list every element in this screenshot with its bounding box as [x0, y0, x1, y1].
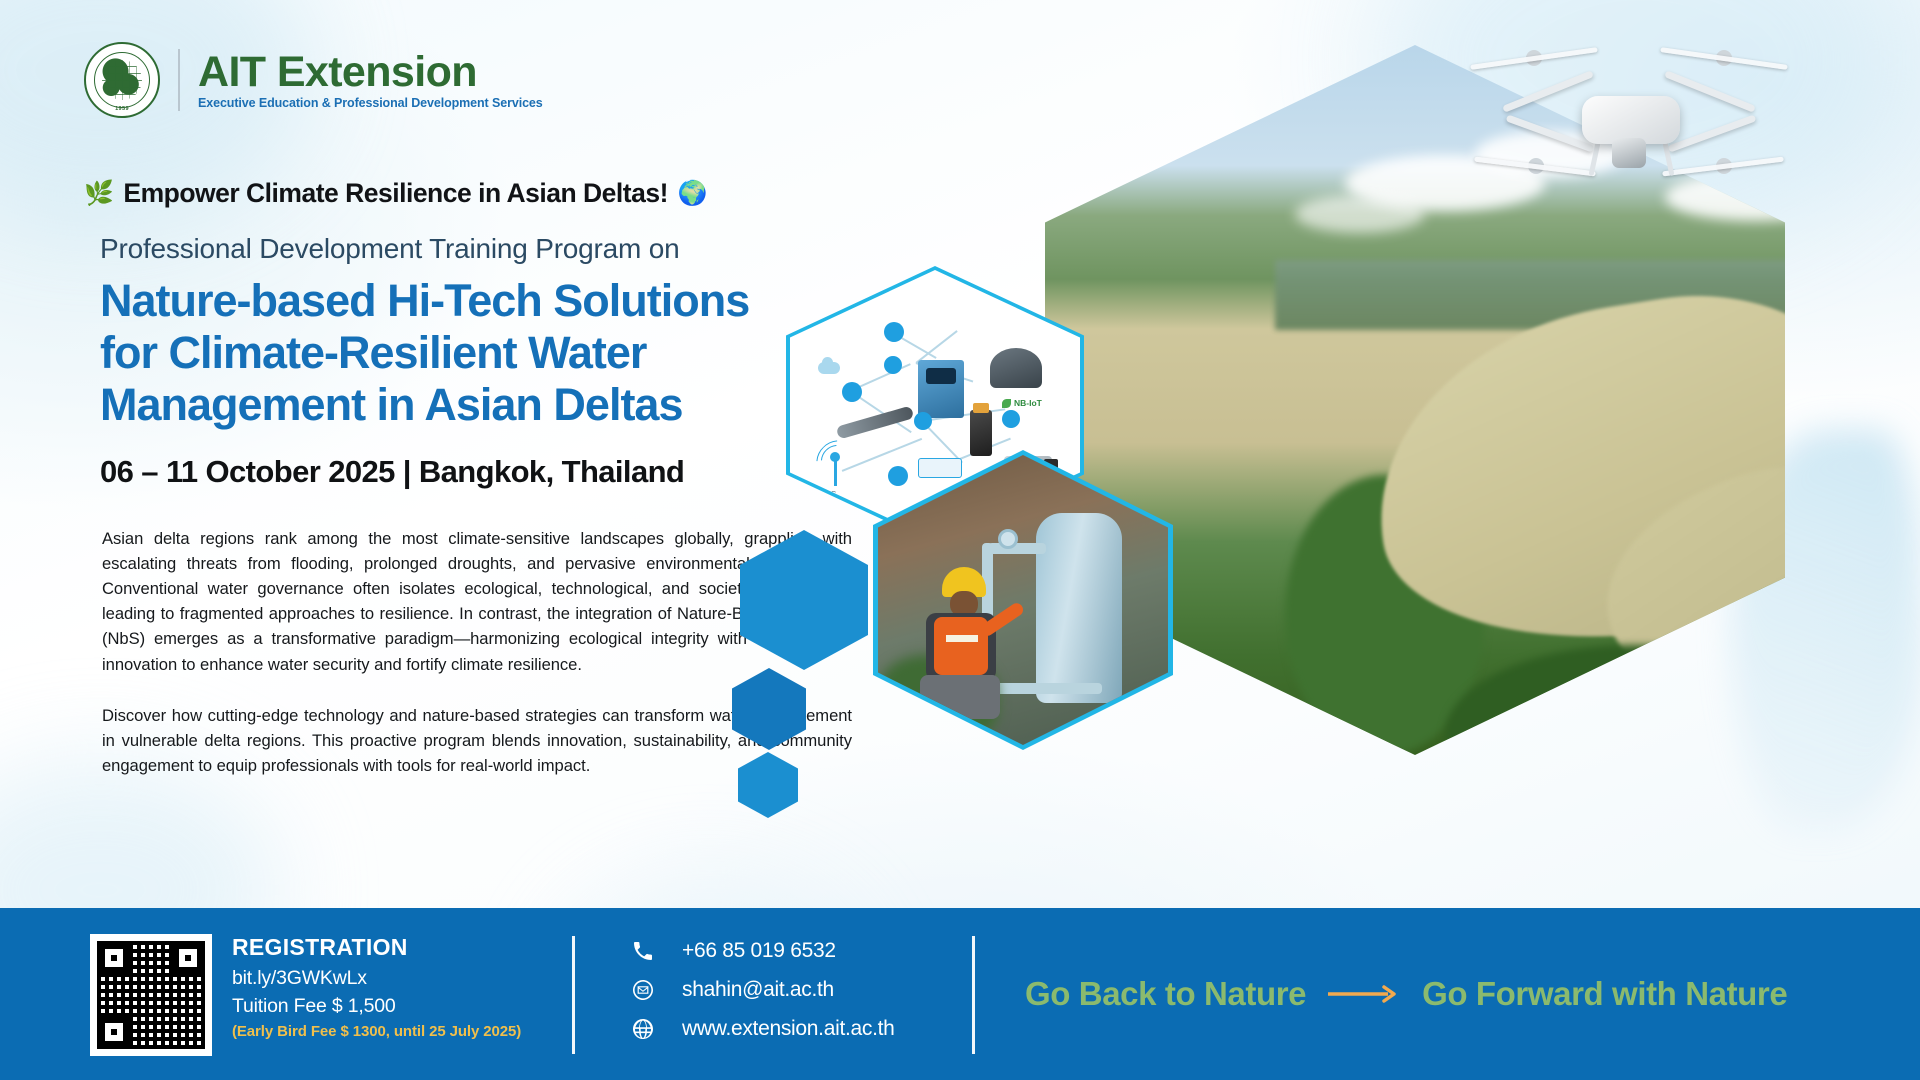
contact-row-website[interactable]: www.extension.ait.ac.th — [630, 1016, 895, 1042]
safety-vest — [934, 617, 988, 675]
probe-sensor-device — [836, 406, 915, 440]
seedling-icon: 🌿 — [84, 182, 113, 206]
qr-finder-pattern — [99, 943, 129, 973]
brand-wordmark: AIT Extension Executive Education & Prof… — [198, 51, 543, 110]
kicker-line: 🌿 Empower Climate Resilience in Asian De… — [84, 178, 844, 209]
contact-row-phone[interactable]: +66 85 019 6532 — [630, 938, 895, 964]
cloud — [1295, 195, 1425, 233]
nbiot-badge: NB-IoT — [1002, 398, 1042, 408]
title-line-1: Nature-based Hi-Tech Solutions — [100, 275, 844, 327]
phone-icon — [630, 938, 656, 964]
cloud-icon — [818, 362, 840, 374]
contact-row-email[interactable]: shahin@ait.ac.th — [630, 977, 895, 1003]
content-column: 🌿 Empower Climate Resilience in Asian De… — [84, 178, 844, 779]
tagline: Go Back to Nature Go Forward with Nature — [1025, 908, 1787, 1080]
qr-code-pattern — [97, 941, 205, 1049]
qr-finder-pattern — [99, 1017, 129, 1047]
router-device — [918, 458, 962, 478]
pipe — [988, 543, 1046, 554]
phone-value: +66 85 019 6532 — [682, 939, 836, 963]
logo-divider — [178, 49, 180, 111]
arrow-right-icon — [1328, 983, 1400, 1005]
network-link — [916, 330, 958, 363]
artwork-collage: GPRS NB-IoT — [830, 0, 1920, 930]
flow-meter-device — [918, 360, 964, 418]
legs — [920, 675, 1000, 719]
tagline-right-text: Go Forward with Nature — [1422, 975, 1787, 1013]
brand-subtitle: Executive Education & Professional Devel… — [198, 96, 543, 110]
globe-icon — [630, 1016, 656, 1042]
registration-heading: REGISTRATION — [232, 934, 521, 961]
forest-patch — [1445, 645, 1825, 825]
network-node — [888, 466, 908, 486]
network-node — [842, 382, 862, 402]
brand-title: AIT Extension — [198, 51, 543, 94]
email-value: shahin@ait.ac.th — [682, 978, 834, 1002]
drone-illustration — [1470, 18, 1790, 218]
nbiot-label: NB-IoT — [1014, 398, 1042, 408]
drone-camera-icon — [1612, 138, 1646, 168]
footer-divider — [572, 936, 575, 1054]
title-line-3: Management in Asian Deltas — [100, 379, 844, 431]
signal-wave-icon — [809, 433, 861, 485]
level-sensor-device — [970, 410, 992, 456]
registration-block: REGISTRATION bit.ly/3GWKwLx Tuition Fee … — [232, 934, 521, 1040]
network-node — [884, 356, 902, 374]
footer-divider — [972, 936, 975, 1054]
early-bird-note: (Early Bird Fee $ 1300, until 25 July 20… — [232, 1023, 521, 1040]
description-paragraph-1: Asian delta regions rank among the most … — [102, 526, 852, 677]
network-node — [914, 412, 932, 430]
page-title: Nature-based Hi-Tech Solutions for Clima… — [100, 275, 844, 432]
title-line-2: for Climate-Resilient Water — [100, 327, 844, 379]
email-icon — [630, 977, 656, 1003]
drone-arm — [1668, 114, 1757, 152]
gauge-device — [990, 348, 1042, 388]
qr-finder-pattern — [173, 943, 203, 973]
tagline-left-text: Go Back to Nature — [1025, 975, 1306, 1013]
drone-arm — [1502, 70, 1594, 112]
globe-emoji-icon: 🌍 — [678, 182, 707, 206]
leaf-icon — [1002, 399, 1011, 408]
brand-header: 1959 AIT Extension Executive Education &… — [84, 42, 543, 118]
registration-qr-code[interactable] — [90, 934, 212, 1056]
water-tank — [1036, 513, 1122, 703]
ait-seal-logo: 1959 — [84, 42, 160, 118]
network-node — [884, 322, 904, 342]
tuition-fee-label: Tuition Fee $ 1,500 — [232, 995, 521, 1018]
drone-body — [1582, 96, 1680, 144]
network-node — [1002, 410, 1020, 428]
technician-figure — [912, 567, 1004, 717]
poster-canvas: 1959 AIT Extension Executive Education &… — [0, 0, 1920, 1080]
website-value: www.extension.ait.ac.th — [682, 1017, 895, 1041]
seal-year-label: 1959 — [86, 106, 158, 112]
registration-link[interactable]: bit.ly/3GWKwLx — [232, 967, 521, 990]
kicker-text: Empower Climate Resilience in Asian Delt… — [123, 178, 668, 209]
valve-handle — [998, 529, 1018, 549]
program-pretitle: Professional Development Training Progra… — [100, 233, 844, 265]
footer-bar: REGISTRATION bit.ly/3GWKwLx Tuition Fee … — [0, 908, 1920, 1080]
date-location-line: 06 – 11 October 2025 | Bangkok, Thailand — [100, 454, 844, 490]
contact-list: +66 85 019 6532 shahin@ait.ac.th www.ext… — [630, 938, 895, 1042]
